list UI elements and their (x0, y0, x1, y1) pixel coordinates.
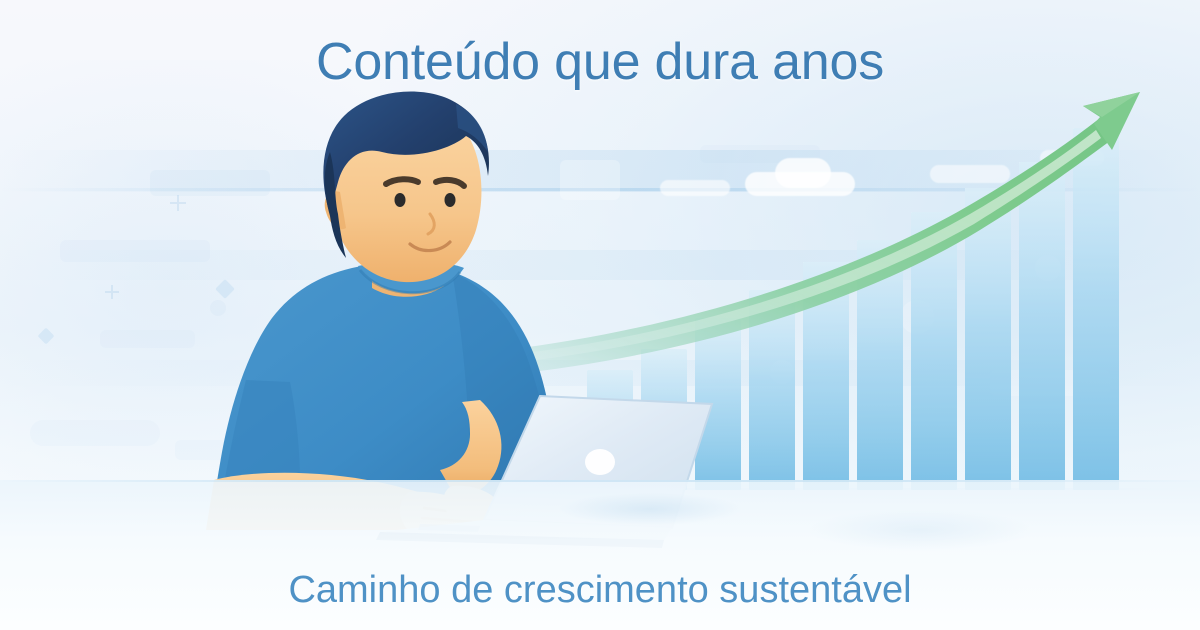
laptop-logo (585, 449, 615, 475)
laptop-shadow (520, 486, 780, 532)
page-title: Conteúdo que dura anos (0, 32, 1200, 92)
promo-banner: Conteúdo que dura anos Caminho de cresci… (0, 0, 1200, 630)
desk-reflection (760, 500, 1080, 560)
person-eye-right (445, 193, 456, 207)
page-subtitle: Caminho de crescimento sustentável (0, 569, 1200, 612)
desk-edge (0, 480, 1200, 482)
person-sleeve-left (224, 380, 300, 484)
person-eye-left (395, 193, 406, 207)
